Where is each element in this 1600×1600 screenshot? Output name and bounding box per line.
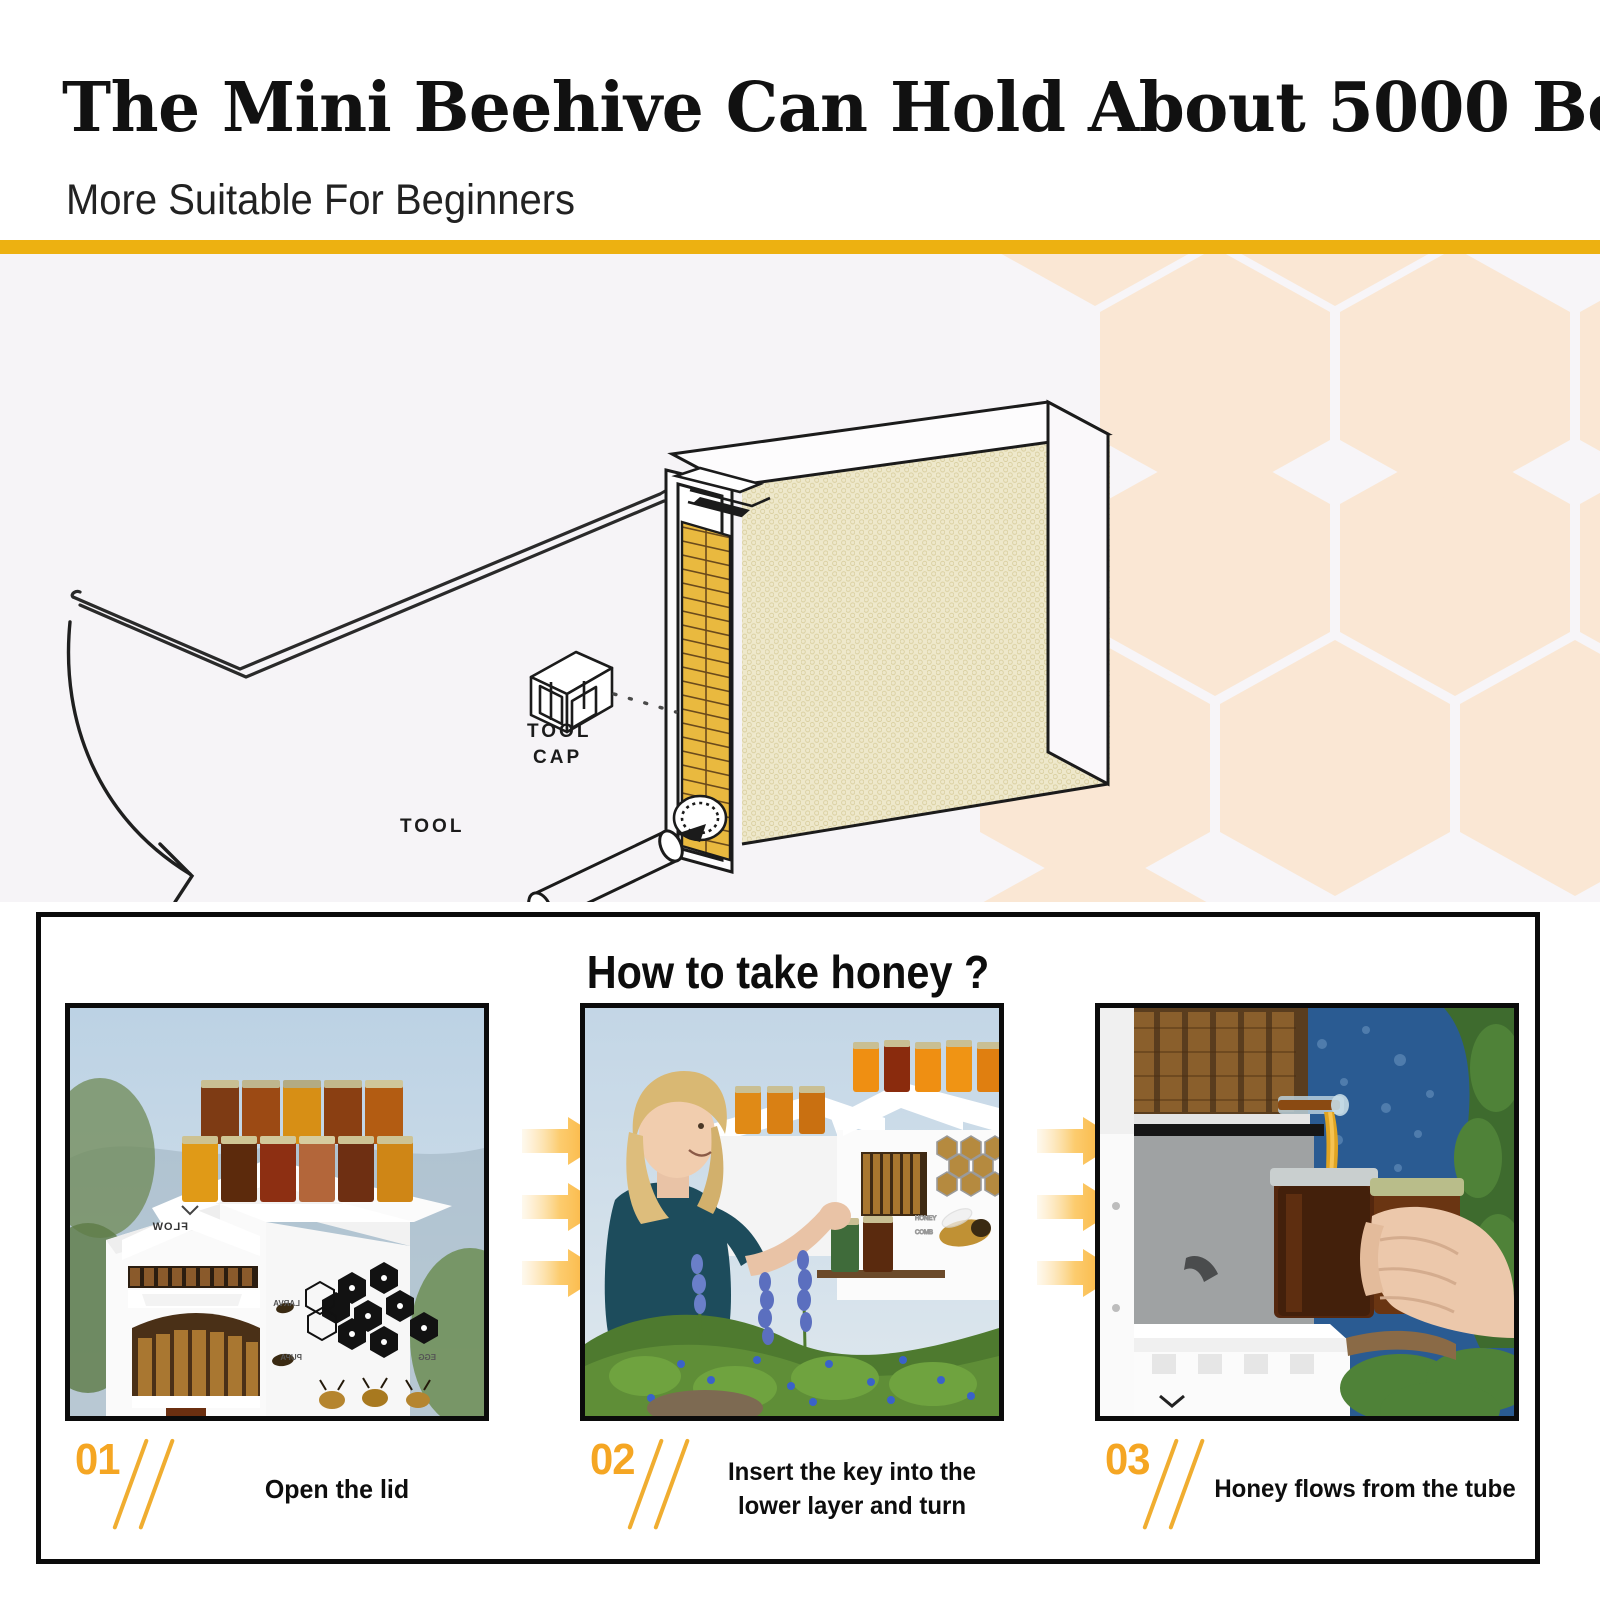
page-subtitle: More Suitable For Beginners [66,176,575,224]
step-3-text: Honey flows from the tube [1211,1435,1518,1543]
tube-port [674,796,726,842]
svg-text:LARVA: LARVA [273,1299,300,1308]
curved-arrow [69,622,193,902]
step-3-photo [1095,1003,1519,1421]
step-1-text: Open the lid [193,1435,481,1543]
step-1-photo: FLOW [65,1003,489,1421]
tube-part [524,827,687,902]
step-1-number: 01 [75,1435,120,1485]
step-3-caption: 03 Honey flows from the tube [1095,1435,1519,1547]
svg-text:FLOW: FLOW [152,1221,188,1233]
header: The Mini Beehive Can Hold About 5000 Bee… [0,0,1600,246]
step-2-slashes [646,1437,704,1541]
page-title: The Mini Beehive Can Hold About 5000 Bee… [62,70,1600,146]
svg-text:HONEY: HONEY [915,1216,936,1222]
label-tool: TOOL [400,816,464,837]
how-to-panel: How to take honey ? [36,912,1540,1564]
svg-text:EGG: EGG [418,1353,436,1362]
step-3: 03 Honey flows from the tube [1095,1003,1519,1547]
step-2: HONEY COMB [580,1003,1004,1547]
step-2-text: Insert the key into the lower layer and … [708,1435,996,1543]
gold-divider [0,240,1600,254]
tool-cap-part [531,652,612,732]
label-tool-cap-line1: TOOL [527,721,591,742]
step-2-number: 02 [590,1435,635,1485]
step-1: FLOW [65,1003,489,1547]
exploded-diagram: TOOL CAP TOOL TUBE CAP TUBE TOOL TOOL TU… [0,254,1600,902]
step-1-caption: 01 Open the lid [65,1435,489,1547]
svg-text:PUPA: PUPA [280,1353,302,1362]
step-2-photo: HONEY COMB [580,1003,1004,1421]
step-1-slashes [131,1437,189,1541]
tool-rod [72,494,664,677]
diagram-svg: TOOL CAP TOOL TUBE CAP TUBE [0,254,1600,902]
how-to-title: How to take honey ? [116,945,1461,999]
label-tool-cap-line2: CAP [533,747,582,768]
step-3-number: 03 [1105,1435,1150,1485]
step-3-slashes [1161,1437,1219,1541]
svg-text:COMB: COMB [915,1230,933,1236]
step-2-caption: 02 Insert the key into the lower layer a… [580,1435,1004,1547]
